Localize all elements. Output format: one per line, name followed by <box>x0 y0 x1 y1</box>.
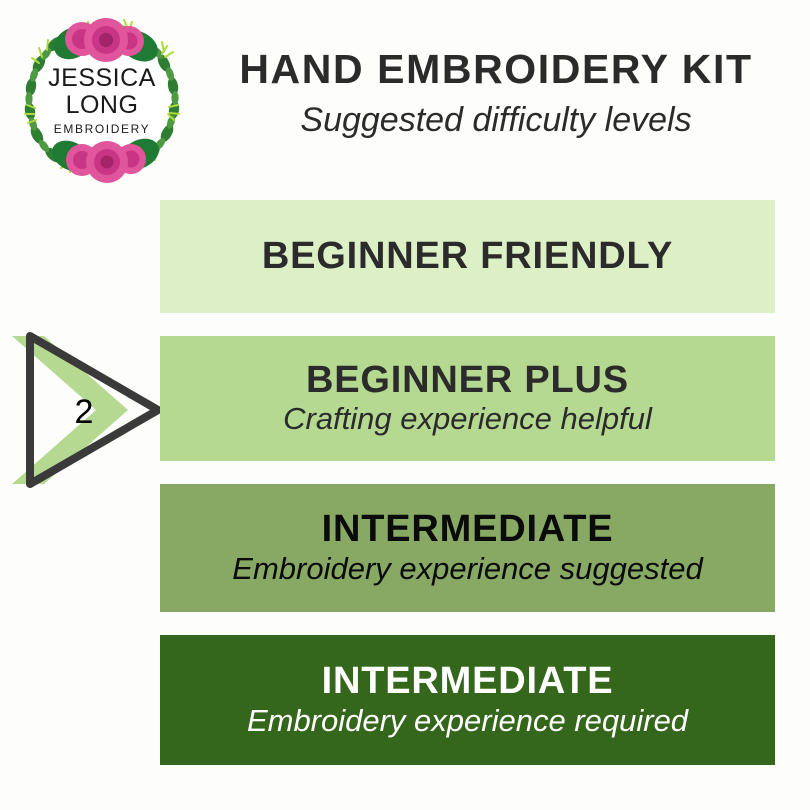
level-band-beginner-friendly[interactable]: BEGINNER FRIENDLY <box>160 200 775 313</box>
level-subtitle: Embroidery experience suggested <box>232 551 702 588</box>
page-title: HAND EMBROIDERY KIT <box>196 48 796 91</box>
header: HAND EMBROIDERY KIT Suggested difficulty… <box>196 48 796 146</box>
level-title: INTERMEDIATE <box>322 508 614 551</box>
logo-line-3: EMBROIDERY <box>54 122 150 136</box>
level-indicator-arrow: 2 <box>8 330 173 490</box>
level-band-beginner-plus[interactable]: BEGINNER PLUS Crafting experience helpfu… <box>160 336 775 461</box>
level-indicator-number: 2 <box>75 393 94 431</box>
difficulty-level-list: BEGINNER FRIENDLY BEGINNER PLUS Crafting… <box>160 200 775 765</box>
brand-logo: JESSICA LONG EMBROIDERY <box>12 10 192 190</box>
logo-line-1: JESSICA <box>48 64 156 92</box>
page-subtitle: Suggested difficulty levels <box>196 95 796 146</box>
level-band-intermediate-suggested[interactable]: INTERMEDIATE Embroidery experience sugge… <box>160 484 775 612</box>
logo-line-2: LONG <box>66 91 139 119</box>
level-subtitle: Embroidery experience required <box>247 703 688 740</box>
level-title: INTERMEDIATE <box>322 660 614 703</box>
level-band-intermediate-required[interactable]: INTERMEDIATE Embroidery experience requi… <box>160 635 775 765</box>
level-title: BEGINNER PLUS <box>306 359 629 402</box>
level-subtitle: Crafting experience helpful <box>283 401 652 438</box>
level-title: BEGINNER FRIENDLY <box>262 235 673 278</box>
difficulty-levels-infographic: JESSICA LONG EMBROIDERY HAND EMBROIDERY … <box>0 0 810 810</box>
